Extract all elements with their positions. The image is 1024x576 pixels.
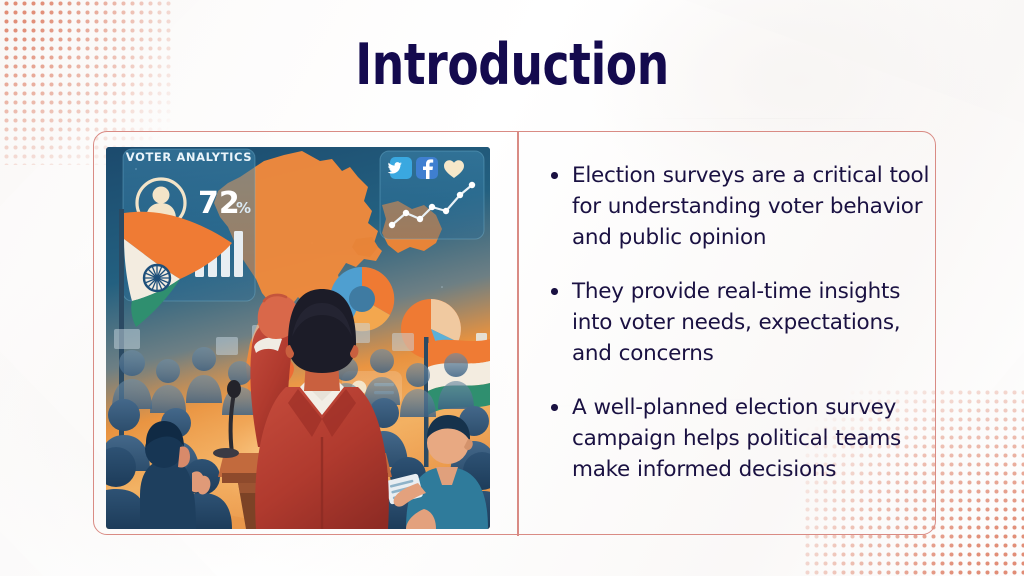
facebook-icon — [416, 157, 438, 179]
slide-title: Introduction — [102, 36, 921, 96]
content-frame: VOTER ANALYTICS 72 % — [93, 131, 936, 535]
twitter-icon — [388, 157, 412, 179]
stat-value: 72 — [198, 186, 240, 221]
bullet-dot-icon — [551, 404, 558, 411]
stat-unit: % — [236, 199, 251, 217]
illustration-image: VOTER ANALYTICS 72 % — [106, 147, 490, 529]
bullet-text: Election surveys are a critical tool for… — [572, 163, 929, 250]
bullet-list: Election surveys are a critical tool for… — [542, 160, 932, 485]
ashoka-chakra — [144, 265, 170, 291]
bullet-item: They provide real-time insights into vot… — [542, 276, 932, 369]
paper-crease — [620, 118, 920, 119]
bullet-dot-icon — [551, 288, 558, 295]
bullet-text: They provide real-time insights into vot… — [572, 279, 900, 366]
bullet-item: A well-planned election survey campaign … — [542, 392, 932, 485]
voter-analytics-heading: VOTER ANALYTICS — [126, 150, 252, 164]
bullet-dot-icon — [551, 172, 558, 179]
bullet-item: Election surveys are a critical tool for… — [542, 160, 932, 253]
slide-canvas: Introduction — [0, 0, 1024, 576]
content-divider — [517, 132, 519, 536]
bullet-text: A well-planned election survey campaign … — [572, 395, 901, 482]
social-line-chart-panel — [380, 151, 484, 239]
